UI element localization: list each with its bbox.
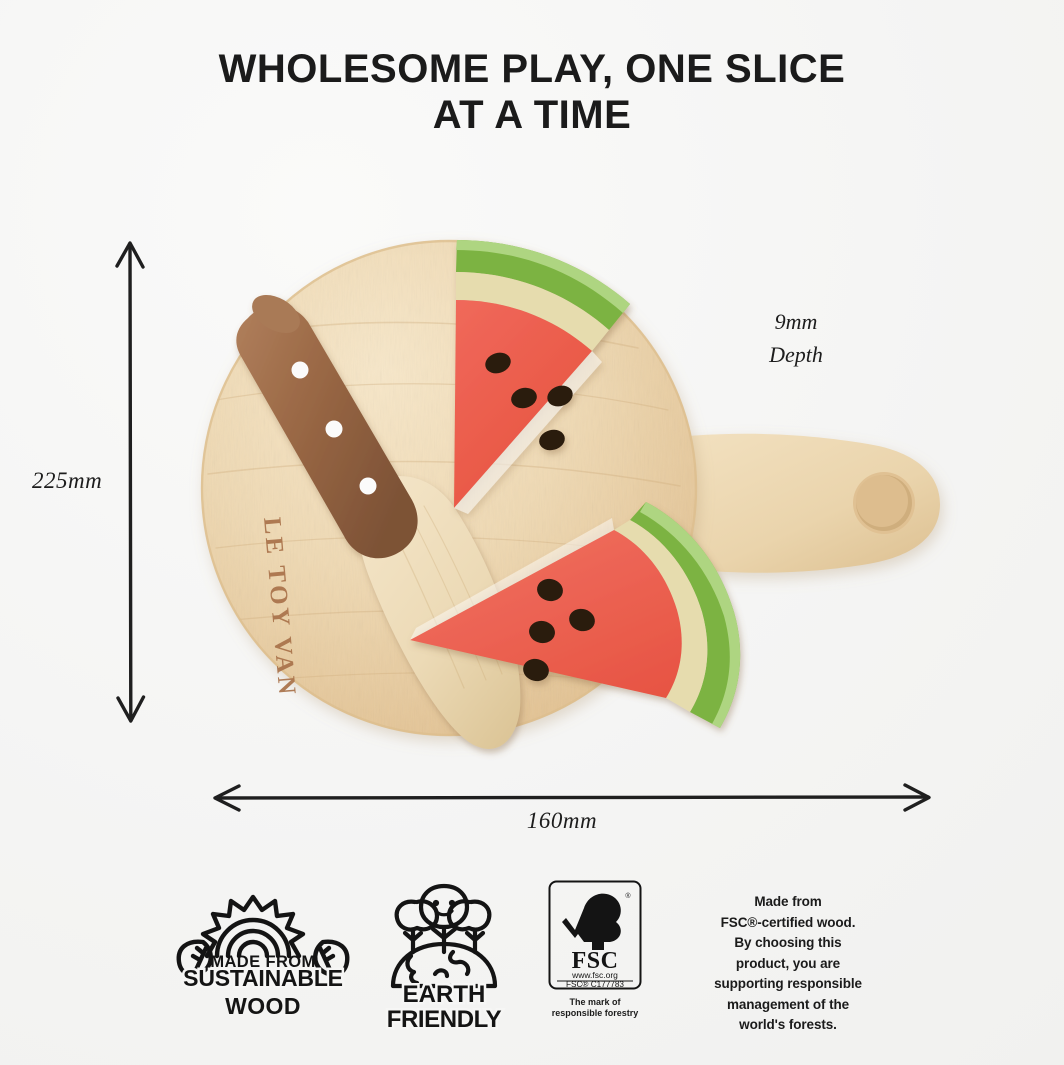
badge-sustainable-wood: MADE FROM SUSTAINABLE WOOD <box>171 878 355 1022</box>
fsc-license-code: FSC® C177783 <box>566 980 624 989</box>
fsc-logo: ® FSC www.fsc.org FSC® C177783 <box>548 880 642 990</box>
fsc-registered-symbol: ® <box>625 892 631 900</box>
certification-badges: MADE FROM SUSTAINABLE WOOD <box>0 878 1064 1028</box>
badge-line-3: WOOD <box>225 993 301 1019</box>
earth-friendly-wordmark: EARTH FRIENDLY <box>381 980 507 1036</box>
fsc-statement-text: Made from FSC®-certified wood. By choosi… <box>683 878 893 1036</box>
tree-rings-leaves-icon: MADE FROM SUSTAINABLE <box>173 884 353 996</box>
page-title: WHOLESOME PLAY, ONE SLICE AT A TIME <box>0 46 1064 138</box>
badge-line-2: SUSTAINABLE <box>183 965 343 991</box>
fsc-caption: The mark of responsible forestry <box>552 997 639 1020</box>
badge-line-1: EARTH <box>403 981 486 1008</box>
knife-rivet-icon <box>292 362 309 379</box>
height-dimension-arrow <box>108 236 152 728</box>
width-dimension-label: 160mm <box>462 808 662 834</box>
knife-rivet-icon <box>360 478 377 495</box>
fsc-checkmark-tree-icon <box>562 894 621 950</box>
product-image: LE TOY VAN <box>168 218 958 763</box>
fsc-website: www.fsc.org <box>571 970 618 980</box>
globe-trees-icon <box>383 882 505 994</box>
wooden-watermelon-toy-set: LE TOY VAN <box>168 218 958 763</box>
infographic-canvas: WHOLESOME PLAY, ONE SLICE AT A TIME 225m… <box>0 0 1064 1065</box>
badge-line-2: FRIENDLY <box>387 1006 502 1033</box>
badge-line-3-group: WOOD <box>173 992 353 1022</box>
knife-rivet-icon <box>326 421 343 438</box>
badge-fsc: ® FSC www.fsc.org FSC® C177783 The mark … <box>533 878 657 1020</box>
height-dimension-label: 225mm <box>32 468 102 494</box>
badge-earth-friendly: EARTH FRIENDLY <box>381 878 507 1036</box>
